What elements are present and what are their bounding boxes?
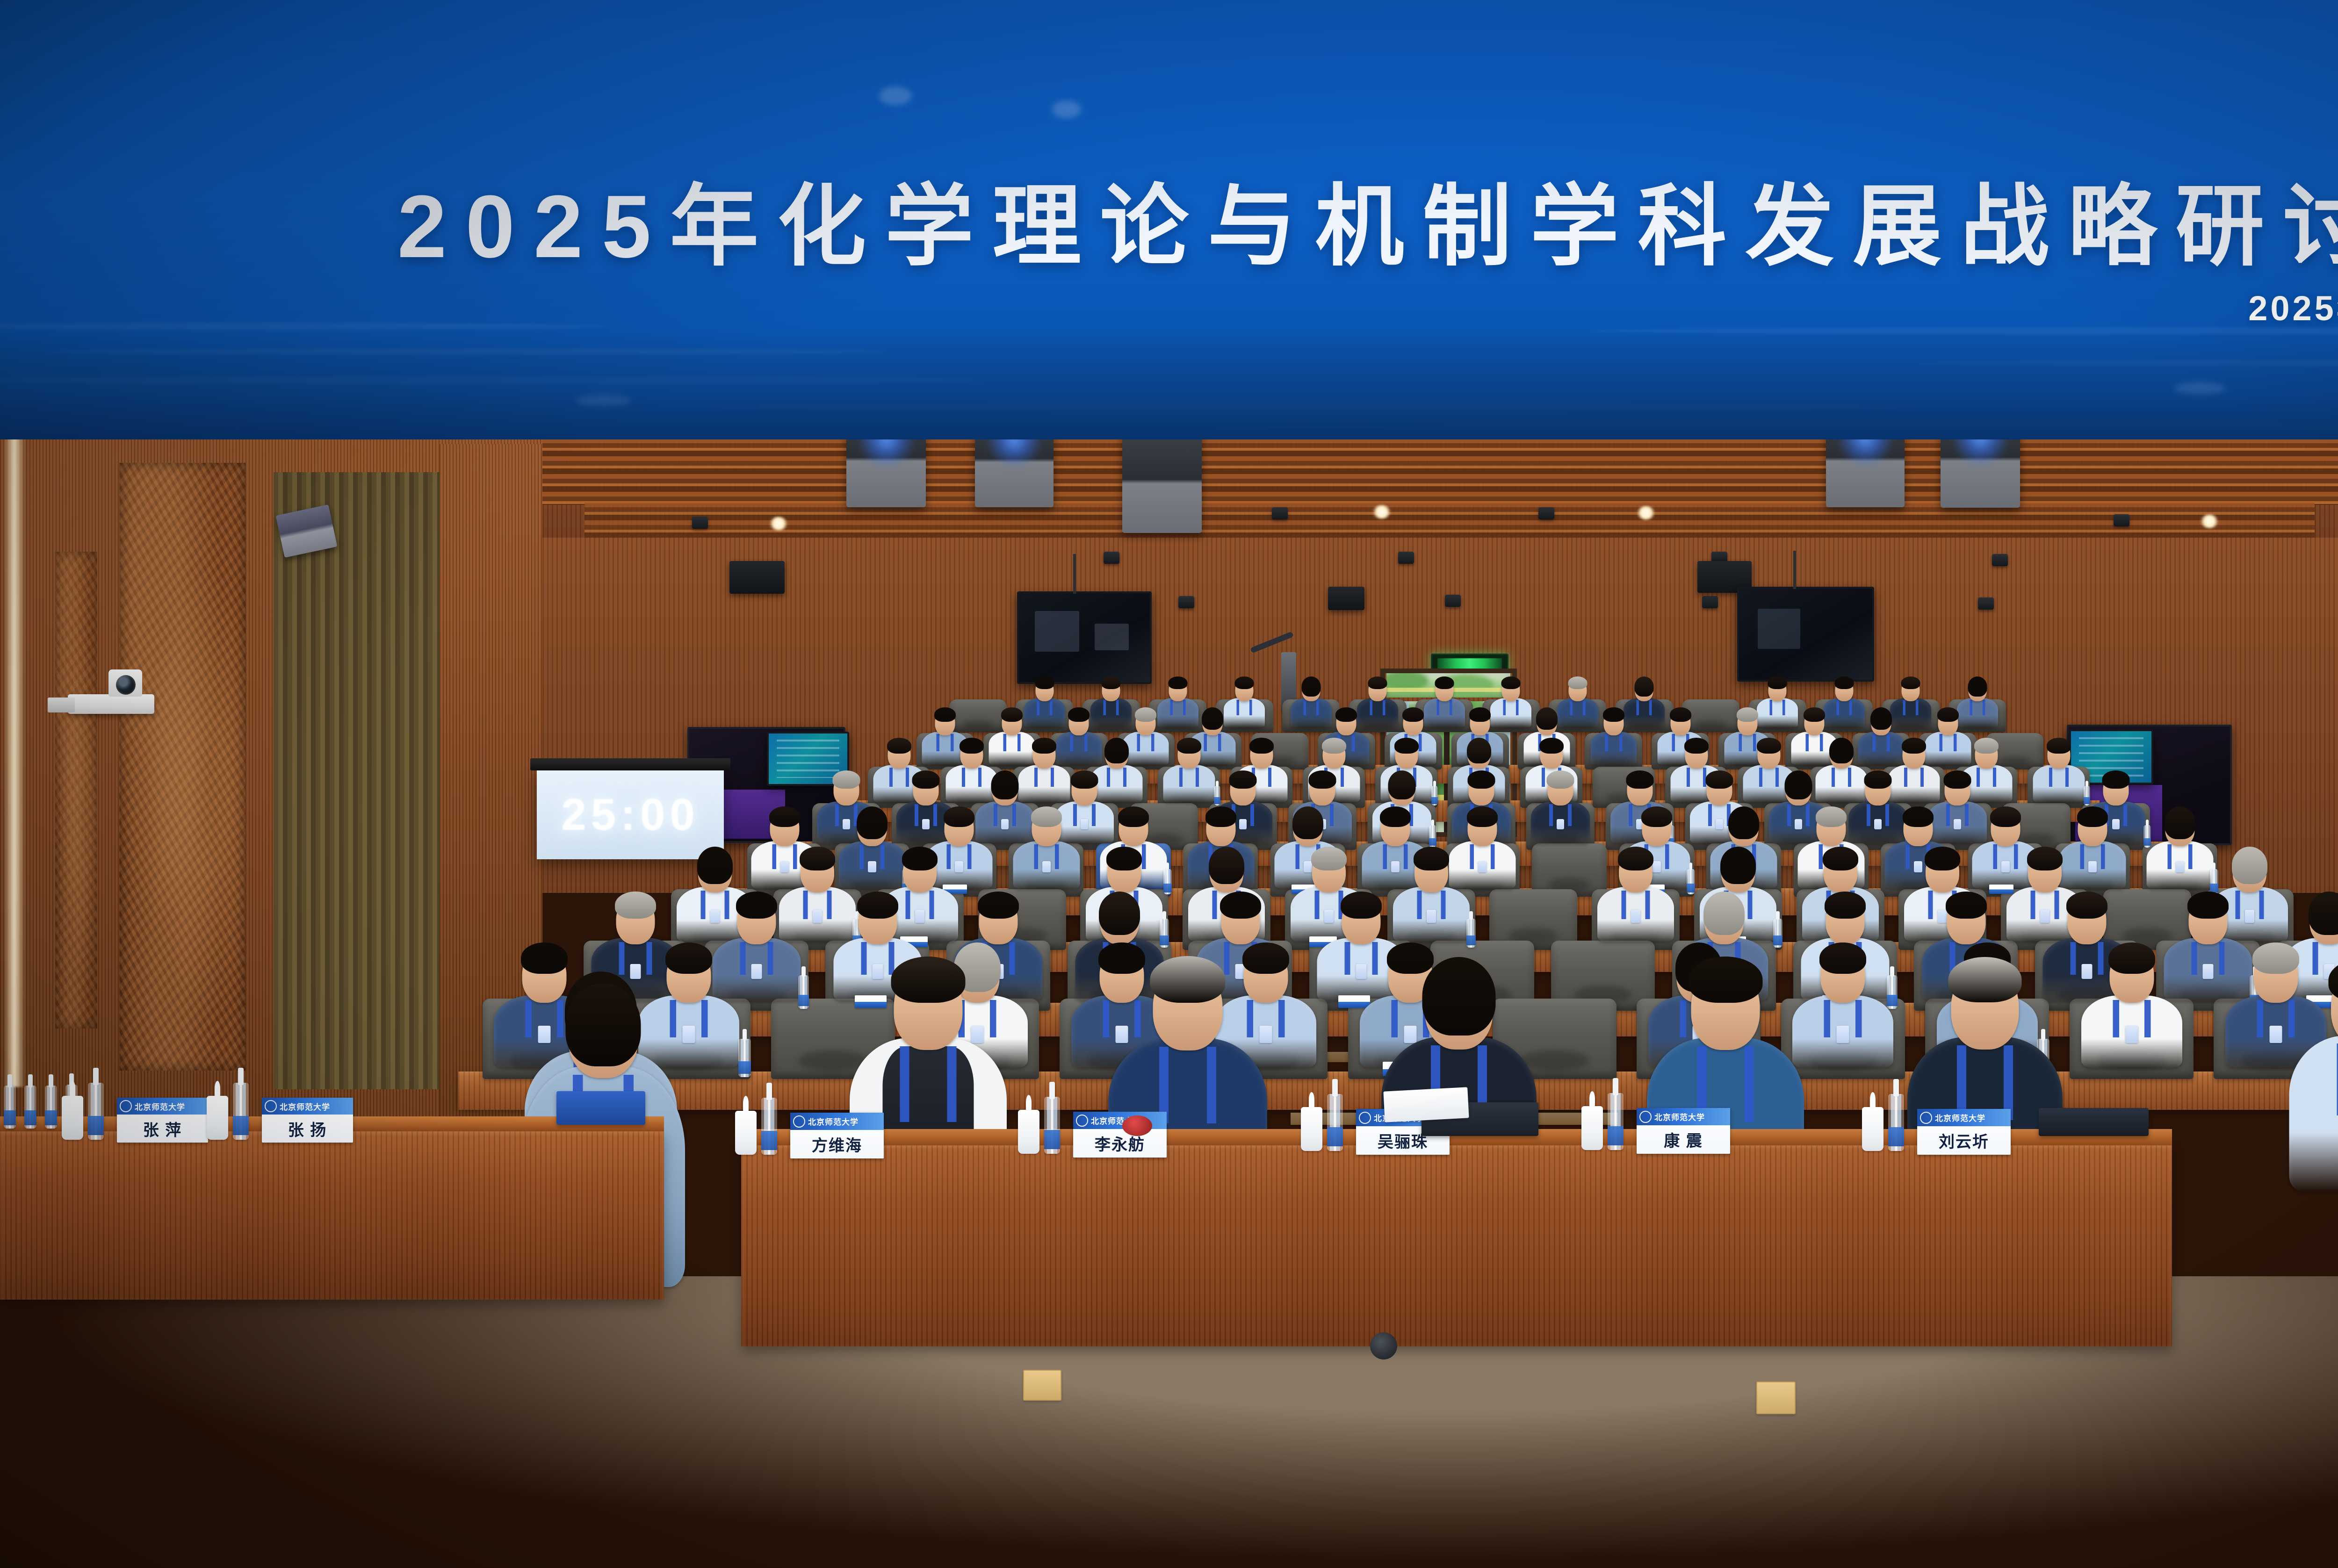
event-subtitle: 2025年9月26-28日 · 北京: [2248, 281, 2338, 331]
water-bottle: [1888, 1094, 1904, 1151]
name-plate: 北京师范大学张 扬: [262, 1098, 353, 1143]
paper-cup: [735, 1111, 757, 1155]
name-plate-org-bar: 北京师范大学: [1917, 1109, 2011, 1126]
name-plate-name: 张 扬: [262, 1115, 353, 1143]
university-seal-icon: [265, 1100, 277, 1112]
name-plate-name: 方维海: [790, 1130, 884, 1158]
banner-bottom-fade: [0, 332, 2338, 439]
event-banner: 2025年化学理论与机制学科发展战略研讨会 2025年9月26-28日 · 北京: [0, 0, 2338, 439]
water-bottle: [1608, 1093, 1624, 1150]
head-desk-center: [741, 1145, 2172, 1346]
water-bottle: [1327, 1094, 1343, 1151]
paper-cup: [207, 1096, 228, 1140]
university-seal-icon: [1639, 1111, 1652, 1123]
name-plate-org-bar: 北京师范大学: [117, 1098, 208, 1115]
university-seal-icon: [120, 1100, 132, 1112]
red-object: [1122, 1115, 1152, 1136]
name-plate-org-bar: 北京师范大学: [1637, 1108, 1730, 1125]
name-plate-org: 北京师范大学: [280, 1100, 330, 1112]
university-seal-icon: [793, 1115, 805, 1128]
water-bottle: [761, 1098, 777, 1155]
paper-cup: [1018, 1110, 1039, 1154]
conference-photo: 25:00: [0, 0, 2338, 1568]
name-plate-org: 北京师范大学: [808, 1115, 859, 1127]
paper-cup: [1301, 1107, 1322, 1151]
name-plate-org: 北京师范大学: [135, 1100, 185, 1112]
water-bottle-rail-1: [4, 1086, 16, 1129]
open-document: [1383, 1087, 1469, 1122]
name-plate-org-bar: 北京师范大学: [262, 1098, 353, 1115]
water-bottle: [233, 1083, 249, 1140]
university-seal-icon: [1076, 1115, 1088, 1127]
event-title: 2025年化学理论与机制学科发展战略研讨会: [0, 154, 2338, 283]
name-plate-name: 李永舫: [1073, 1129, 1167, 1158]
water-bottle-rail-3: [45, 1086, 57, 1129]
name-plate: 北京师范大学方维海: [790, 1113, 884, 1158]
paper-cup: [1862, 1107, 1883, 1151]
water-bottle-rail-2: [24, 1086, 36, 1129]
name-plate-name: 刘云圻: [1917, 1126, 2011, 1155]
name-plate: 北京师范大学李永舫: [1073, 1112, 1167, 1158]
name-plate: 北京师范大学康 震: [1637, 1108, 1730, 1154]
water-bottle: [88, 1083, 104, 1140]
name-plate-org-bar: 北京师范大学: [790, 1113, 884, 1130]
university-seal-icon: [1359, 1112, 1371, 1124]
name-plate-org: 北京师范大学: [1654, 1111, 1705, 1122]
name-plate-org: 北京师范大学: [1935, 1112, 1985, 1123]
name-plate-org-bar: 北京师范大学: [1073, 1112, 1167, 1129]
paper-cup: [62, 1096, 83, 1140]
document-folder-right: [2039, 1108, 2149, 1136]
head-desk-left: [0, 1131, 664, 1300]
name-plate-name: 张 萍: [117, 1115, 208, 1143]
conference-bag: [556, 1091, 645, 1125]
name-plate: 北京师范大学张 萍: [117, 1098, 208, 1143]
water-bottle: [1044, 1097, 1060, 1154]
desk-microphone: [1370, 1332, 1397, 1359]
name-plate: 北京师范大学刘云圻: [1917, 1109, 2011, 1155]
paper-cup: [1581, 1106, 1603, 1150]
name-plate-name: 康 震: [1637, 1125, 1730, 1154]
university-seal-icon: [1920, 1112, 1932, 1124]
